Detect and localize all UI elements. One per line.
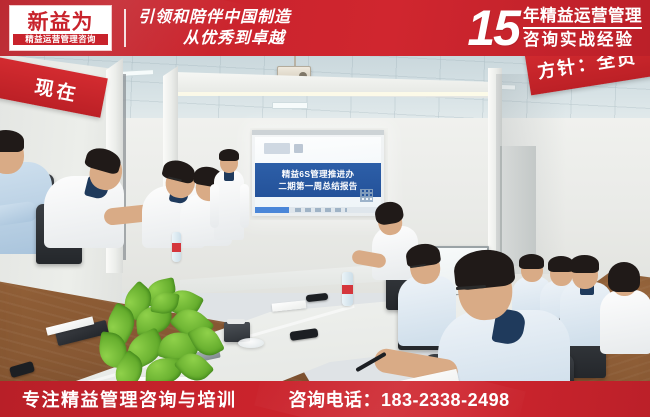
person-hair: [570, 255, 599, 273]
mobile-phone: [306, 293, 329, 302]
person-torso: [600, 290, 650, 354]
years-line-2: 咨询实战经验: [523, 29, 642, 51]
slide-title-line-1: 精益6S管理推进办: [282, 168, 355, 180]
years-number: 15: [467, 5, 519, 51]
meeting-room-photo: 现在 方针：全员 精益6S管理推进办 二期第一周总结报告: [0, 54, 650, 384]
ashtray: [238, 338, 264, 348]
qr-code-icon: [360, 189, 373, 202]
ceiling-light: [272, 102, 308, 109]
person-hair: [608, 262, 640, 292]
presenter-arm: [240, 184, 249, 228]
projection-screen: 精益6S管理推进办 二期第一周总结报告: [252, 130, 384, 216]
promotional-banner-image: 新益为 精益运营管理咨询 引领和陪伴中国制造 从优秀到卓越 15 年精益运营管理…: [0, 0, 650, 417]
potted-plant: [96, 280, 226, 384]
screen-top-rail: [252, 130, 384, 135]
years-text-block: 年精益运营管理 咨询实战经验: [523, 5, 642, 51]
tissue-sheet: [227, 319, 245, 324]
presenter-arm: [210, 184, 219, 228]
bottle-label: [172, 243, 181, 252]
slogan-line-2: 从优秀到卓越: [138, 28, 291, 49]
header-bar: 新益为 精益运营管理咨询 引领和陪伴中国制造 从优秀到卓越 15 年精益运营管理…: [0, 0, 650, 56]
company-logo: 新益为 精益运营管理咨询: [9, 5, 112, 51]
slide-title-line-2: 二期第一周总结报告: [278, 180, 357, 192]
taskbar-items: [295, 208, 347, 212]
soffit-light-strip: [178, 92, 490, 96]
presenter-hair: [219, 149, 239, 161]
bottle-label: [342, 285, 353, 294]
room-door: [500, 146, 536, 266]
presentation-slide: 精益6S管理推进办 二期第一周总结报告: [255, 137, 381, 213]
slide-secondary-icon: [294, 144, 303, 153]
water-bottle: [172, 232, 181, 262]
header-slogan: 引领和陪伴中国制造 从优秀到卓越: [138, 7, 291, 49]
header-divider: [124, 9, 126, 47]
taskbar-start-button: [255, 207, 289, 213]
logo-sub-text: 精益运营管理咨询: [13, 34, 108, 45]
water-bottle: [342, 272, 353, 306]
experience-badge: 15 年精益运营管理 咨询实战经验: [467, 5, 650, 51]
person-hair: [519, 254, 544, 269]
footer-phone: 咨询电话：183-2338-2498: [289, 386, 510, 412]
slogan-line-1: 引领和陪伴中国制造: [138, 7, 291, 28]
logo-main-text: 新益为: [28, 12, 94, 33]
footer-bar: 专注精益管理咨询与培训 咨询电话：183-2338-2498: [0, 381, 650, 417]
footer-tagline: 专注精益管理咨询与培训: [22, 386, 237, 412]
slide-taskbar: [255, 207, 381, 213]
years-line-1: 年精益运营管理: [523, 5, 642, 27]
slide-logo-icon: [264, 143, 290, 154]
